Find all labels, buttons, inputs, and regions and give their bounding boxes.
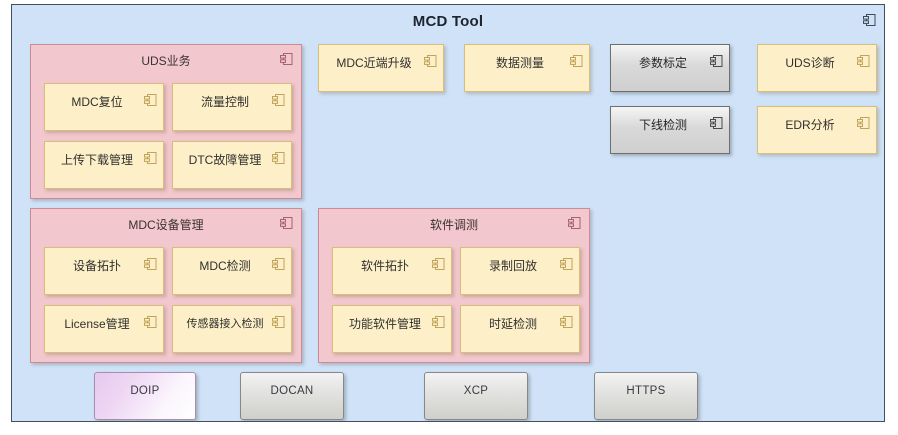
component-data-measurement[interactable]: 数据测量 [464, 44, 590, 92]
mcd-tool-frame: MCD Tool UDS业务 MDC复位 流量控制 [11, 4, 885, 422]
protocol-label: DOCAN [241, 385, 343, 397]
component-parameter-calibration[interactable]: 参数标定 [610, 44, 730, 92]
component-label: License管理 [45, 315, 163, 332]
protocol-label: HTTPS [595, 385, 697, 397]
component-flow-control[interactable]: 流量控制 [172, 83, 292, 131]
group-software-debugging[interactable]: 软件调测 软件拓扑 录制回放 功能软件管理 [318, 208, 590, 363]
group-title: MDC设备管理 [31, 216, 301, 233]
component-software-topology[interactable]: 软件拓扑 [332, 247, 452, 295]
component-record-playback[interactable]: 录制回放 [460, 247, 580, 295]
component-mdc-reset[interactable]: MDC复位 [44, 83, 164, 131]
group-uds-business[interactable]: UDS业务 MDC复位 流量控制 上传下载管理 [30, 44, 302, 199]
group-title: UDS业务 [31, 52, 301, 69]
component-sensor-access-detection[interactable]: 传感器接入检测 [172, 305, 292, 353]
component-label: 上传下载管理 [45, 151, 163, 168]
component-label: 功能软件管理 [333, 315, 451, 332]
component-uds-diagnosis[interactable]: UDS诊断 [757, 44, 877, 92]
component-upload-download-management[interactable]: 上传下载管理 [44, 141, 164, 189]
component-device-topology[interactable]: 设备拓扑 [44, 247, 164, 295]
component-label: 下线检测 [611, 116, 729, 133]
protocol-label: XCP [425, 385, 527, 397]
page-title: MCD Tool [12, 13, 884, 30]
component-label: 参数标定 [611, 54, 729, 71]
component-label: 录制回放 [461, 257, 579, 274]
component-end-of-line-test[interactable]: 下线检测 [610, 106, 730, 154]
component-label: 软件拓扑 [333, 257, 451, 274]
component-label: DTC故障管理 [173, 151, 291, 168]
component-edr-analysis[interactable]: EDR分析 [757, 106, 877, 154]
component-label: 设备拓扑 [45, 257, 163, 274]
protocol-docan[interactable]: DOCAN [240, 372, 344, 420]
group-mdc-device-management[interactable]: MDC设备管理 设备拓扑 MDC检测 License管理 [30, 208, 302, 363]
component-label: MDC检测 [173, 257, 291, 274]
component-label: MDC近端升级 [319, 54, 443, 71]
diagram-canvas: MCD Tool UDS业务 MDC复位 流量控制 [0, 0, 898, 435]
component-label: EDR分析 [758, 116, 876, 133]
component-label: 流量控制 [173, 93, 291, 110]
component-latency-detection[interactable]: 时延检测 [460, 305, 580, 353]
protocol-https[interactable]: HTTPS [594, 372, 698, 420]
component-label: UDS诊断 [758, 54, 876, 71]
component-license-management[interactable]: License管理 [44, 305, 164, 353]
protocol-xcp[interactable]: XCP [424, 372, 528, 420]
component-label: 传感器接入检测 [173, 315, 291, 331]
protocol-doip[interactable]: DOIP [94, 372, 196, 420]
component-mdc-detection[interactable]: MDC检测 [172, 247, 292, 295]
component-dtc-fault-management[interactable]: DTC故障管理 [172, 141, 292, 189]
group-title: 软件调测 [319, 216, 589, 233]
component-mdc-near-end-upgrade[interactable]: MDC近端升级 [318, 44, 444, 92]
component-functional-software-management[interactable]: 功能软件管理 [332, 305, 452, 353]
component-label: 时延检测 [461, 315, 579, 332]
protocol-label: DOIP [95, 385, 195, 397]
component-label: MDC复位 [45, 93, 163, 110]
component-label: 数据测量 [465, 54, 589, 71]
